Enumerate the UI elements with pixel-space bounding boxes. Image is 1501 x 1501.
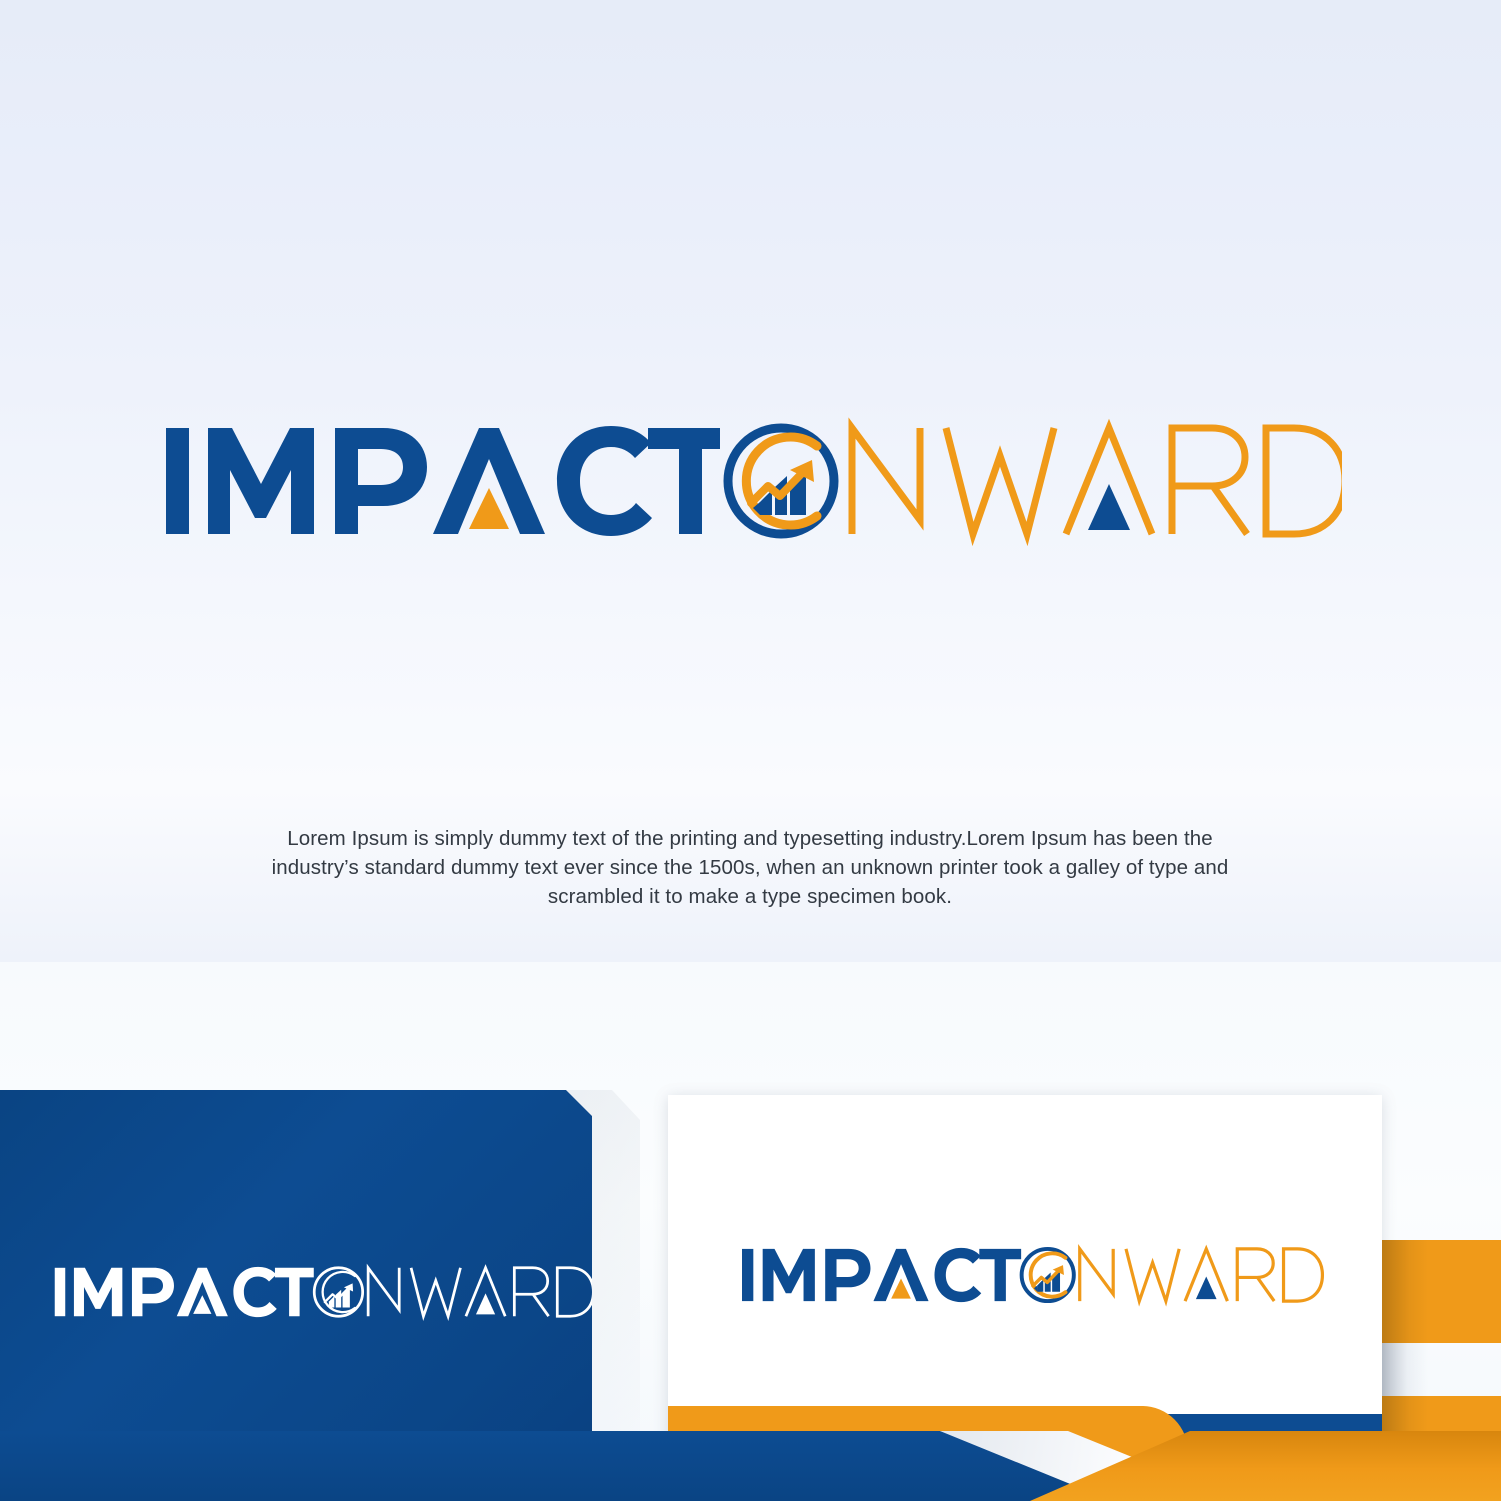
logo-white-variant bbox=[52, 1261, 592, 1323]
bottom-decor-ribbon bbox=[0, 1431, 1501, 1501]
tagline-paragraph: Lorem Ipsum is simply dummy text of the … bbox=[270, 824, 1230, 911]
blue-card-logo-lockup bbox=[52, 1261, 592, 1321]
logo-presentation-panel: Lorem Ipsum is simply dummy text of the … bbox=[0, 0, 1501, 962]
decor-band-top bbox=[1382, 1240, 1501, 1343]
growth-chart-circle-icon bbox=[720, 420, 842, 542]
growth-chart-circle-icon bbox=[314, 1268, 362, 1316]
primary-logo-lockup bbox=[160, 416, 1345, 546]
logo-color-variant bbox=[730, 1243, 1330, 1307]
wordmark-onward bbox=[842, 416, 1342, 546]
wordmark-impact bbox=[160, 416, 720, 546]
business-card-logo-lockup bbox=[730, 1243, 1330, 1307]
a-accent-triangle bbox=[1088, 484, 1130, 530]
growth-chart-circle-icon bbox=[1022, 1249, 1074, 1301]
a-accent-triangle bbox=[469, 488, 509, 529]
